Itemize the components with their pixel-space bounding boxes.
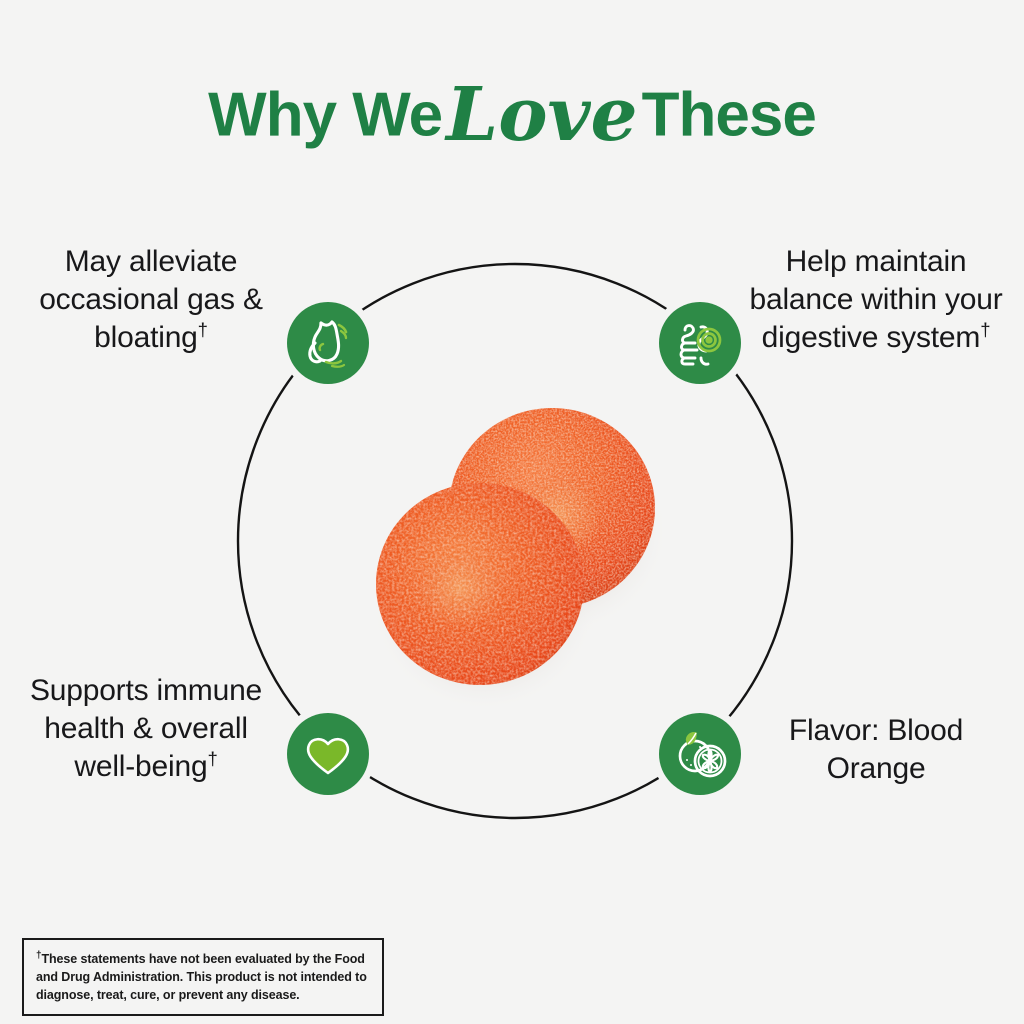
- infographic-canvas: Why WeLoveThese: [0, 0, 1024, 1024]
- disclaimer-text: These statements have not been evaluated…: [36, 952, 367, 1002]
- feature-dagger-stomach: †: [198, 319, 208, 340]
- feature-text-flavor: Flavor: Blood Orange: [742, 712, 1010, 788]
- stomach-icon: [299, 314, 357, 372]
- fda-disclaimer-box: †These statements have not been evaluate…: [22, 938, 384, 1016]
- intestines-icon: [671, 314, 729, 372]
- feature-dagger-immune: †: [207, 748, 217, 769]
- citrus-icon: [671, 725, 729, 783]
- feature-label-flavor: Flavor: Blood Orange: [789, 714, 963, 785]
- feature-badge-citrus[interactable]: [659, 713, 741, 795]
- feature-badge-heart[interactable]: [287, 713, 369, 795]
- heart-icon: [299, 725, 357, 783]
- feature-text-immune: Supports immune health & overall well-be…: [10, 672, 282, 786]
- product-image-gummies: [352, 380, 682, 710]
- feature-text-intestines: Help maintain balance within your digest…: [742, 243, 1010, 357]
- feature-text-stomach: May alleviate occasional gas & bloating†: [20, 243, 282, 357]
- feature-dagger-intestines: †: [980, 319, 990, 340]
- feature-label-immune: Supports immune health & overall well-be…: [30, 674, 262, 783]
- feature-badge-stomach[interactable]: [287, 302, 369, 384]
- feature-badge-intestines[interactable]: [659, 302, 741, 384]
- feature-label-intestines: Help maintain balance within your digest…: [749, 245, 1002, 354]
- feature-label-stomach: May alleviate occasional gas & bloating: [39, 245, 263, 354]
